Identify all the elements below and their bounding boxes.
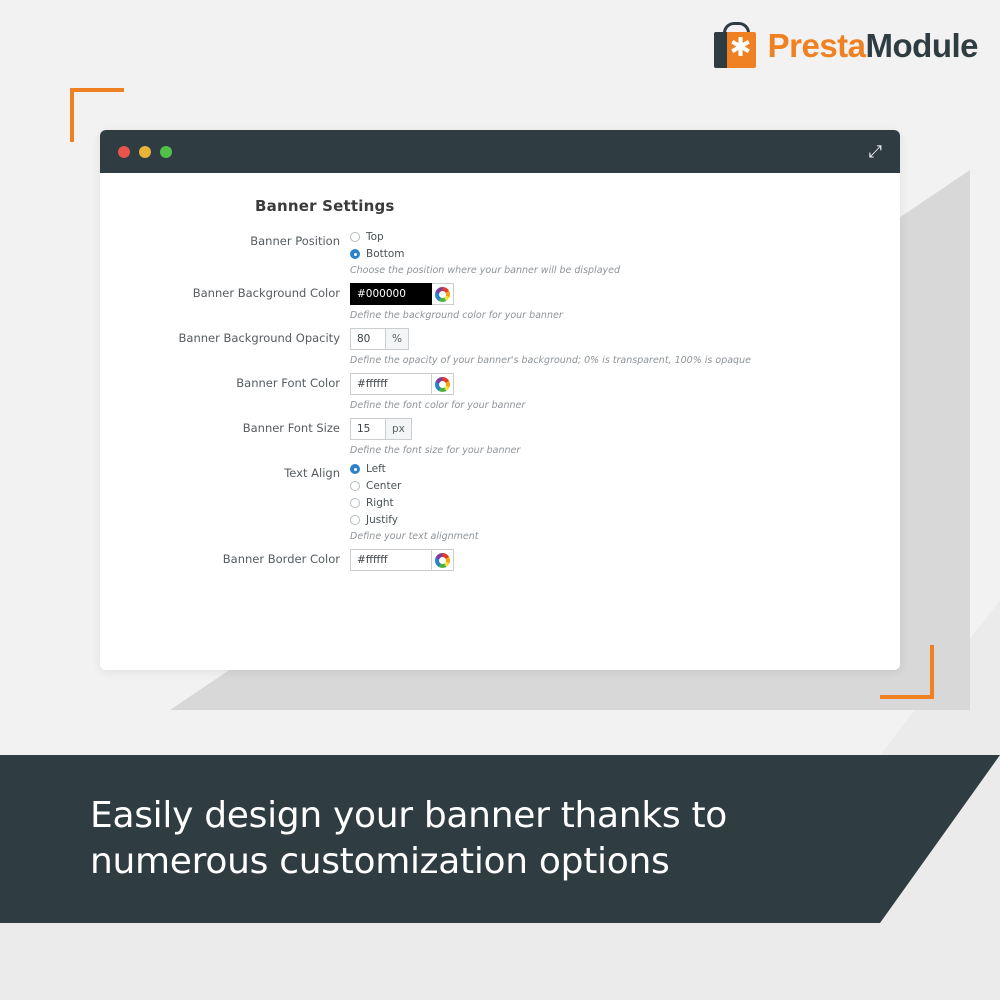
settings-form: Banner Settings Banner Position Top Bott… <box>100 173 900 670</box>
radio-option-top[interactable]: Top <box>350 231 900 243</box>
radio-icon-right[interactable] <box>350 498 360 508</box>
decorative-bracket-top-left <box>70 88 124 142</box>
brand-name-module: Module <box>866 27 978 64</box>
brand-name-presta: Presta <box>768 27 866 64</box>
radio-option-center[interactable]: Center <box>350 480 900 492</box>
brand-name: PrestaModule <box>768 27 978 65</box>
form-row-banner-font-color: Banner Font Color #ffffff Define the fon… <box>100 373 900 411</box>
hint-banner-font-size: Define the font size for your banner <box>350 445 900 456</box>
color-wheel-icon <box>435 553 450 568</box>
color-picker-button-background[interactable] <box>432 283 454 305</box>
label-banner-font-color: Banner Font Color <box>100 373 350 411</box>
decorative-bracket-bottom-right <box>880 645 934 699</box>
banner-background-opacity-input[interactable]: 80 <box>350 328 386 350</box>
color-picker-button-border[interactable] <box>432 549 454 571</box>
form-row-banner-font-size: Banner Font Size 15 px Define the font s… <box>100 418 900 456</box>
radio-label-right: Right <box>366 497 394 509</box>
label-text-align: Text Align <box>100 463 350 542</box>
radio-label-bottom: Bottom <box>366 248 405 260</box>
field-banner-background-color: #000000 Define the background color for … <box>350 283 900 321</box>
page-title: Banner Settings <box>255 197 900 215</box>
maximize-dot-icon[interactable] <box>160 146 172 158</box>
banner-border-color-input[interactable]: #ffffff <box>350 549 432 571</box>
field-banner-border-color: #ffffff <box>350 549 900 571</box>
banner-font-color-input[interactable]: #ffffff <box>350 373 432 395</box>
radio-option-left[interactable]: Left <box>350 463 900 475</box>
radio-label-justify: Justify <box>366 514 398 526</box>
shopping-bag-puzzle-icon: ✱ <box>710 22 762 70</box>
label-banner-border-color: Banner Border Color <box>100 549 350 571</box>
hint-banner-position: Choose the position where your banner wi… <box>350 265 900 276</box>
label-banner-position: Banner Position <box>100 231 350 276</box>
form-row-text-align: Text Align Left Center Right Justify <box>100 463 900 542</box>
input-group-banner-font-size: 15 px <box>350 418 900 440</box>
radio-icon-center[interactable] <box>350 481 360 491</box>
radio-option-justify[interactable]: Justify <box>350 514 900 526</box>
label-banner-font-size: Banner Font Size <box>100 418 350 456</box>
field-banner-font-size: 15 px Define the font size for your bann… <box>350 418 900 456</box>
input-group-banner-background-opacity: 80 % <box>350 328 900 350</box>
radio-icon-bottom[interactable] <box>350 249 360 259</box>
color-picker-button-font[interactable] <box>432 373 454 395</box>
unit-percent: % <box>386 328 409 350</box>
radio-icon-justify[interactable] <box>350 515 360 525</box>
form-row-banner-background-color: Banner Background Color #000000 Define t… <box>100 283 900 321</box>
browser-window: ⤢ Banner Settings Banner Position Top Bo… <box>100 130 900 670</box>
field-text-align: Left Center Right Justify Define your te… <box>350 463 900 542</box>
input-group-banner-border-color: #ffffff <box>350 549 900 571</box>
puzzle-piece-icon: ✱ <box>730 34 752 60</box>
label-banner-background-color: Banner Background Color <box>100 283 350 321</box>
radio-icon-top[interactable] <box>350 232 360 242</box>
radio-label-left: Left <box>366 463 386 475</box>
hint-banner-background-opacity: Define the opacity of your banner's back… <box>350 355 900 366</box>
input-group-banner-font-color: #ffffff <box>350 373 900 395</box>
caption-text: Easily design your banner thanks to nume… <box>90 793 870 885</box>
color-wheel-icon <box>435 377 450 392</box>
form-row-banner-background-opacity: Banner Background Opacity 80 % Define th… <box>100 328 900 366</box>
form-row-banner-position: Banner Position Top Bottom Choose the po… <box>100 231 900 276</box>
expand-icon[interactable]: ⤢ <box>868 143 882 160</box>
minimize-dot-icon[interactable] <box>139 146 151 158</box>
banner-background-color-input[interactable]: #000000 <box>350 283 432 305</box>
hint-banner-background-color: Define the background color for your ban… <box>350 310 900 321</box>
field-banner-font-color: #ffffff Define the font color for your b… <box>350 373 900 411</box>
traffic-light-controls <box>118 146 172 158</box>
prestamodule-logo: ✱ PrestaModule <box>710 22 978 70</box>
form-row-banner-border-color: Banner Border Color #ffffff <box>100 549 900 571</box>
hint-banner-font-color: Define the font color for your banner <box>350 400 900 411</box>
caption-line-2: numerous customization options <box>90 839 870 885</box>
radio-label-center: Center <box>366 480 401 492</box>
radio-option-right[interactable]: Right <box>350 497 900 509</box>
color-wheel-icon <box>435 287 450 302</box>
radio-option-bottom[interactable]: Bottom <box>350 248 900 260</box>
caption-line-1: Easily design your banner thanks to <box>90 793 870 839</box>
hint-text-align: Define your text alignment <box>350 531 900 542</box>
label-banner-background-opacity: Banner Background Opacity <box>100 328 350 366</box>
bag-body-dark-icon <box>714 32 727 68</box>
radio-label-top: Top <box>366 231 384 243</box>
input-group-banner-background-color: #000000 <box>350 283 900 305</box>
field-banner-position: Top Bottom Choose the position where you… <box>350 231 900 276</box>
field-banner-background-opacity: 80 % Define the opacity of your banner's… <box>350 328 900 366</box>
radio-icon-left[interactable] <box>350 464 360 474</box>
window-titlebar: ⤢ <box>100 130 900 173</box>
banner-font-size-input[interactable]: 15 <box>350 418 386 440</box>
unit-px: px <box>386 418 412 440</box>
close-dot-icon[interactable] <box>118 146 130 158</box>
